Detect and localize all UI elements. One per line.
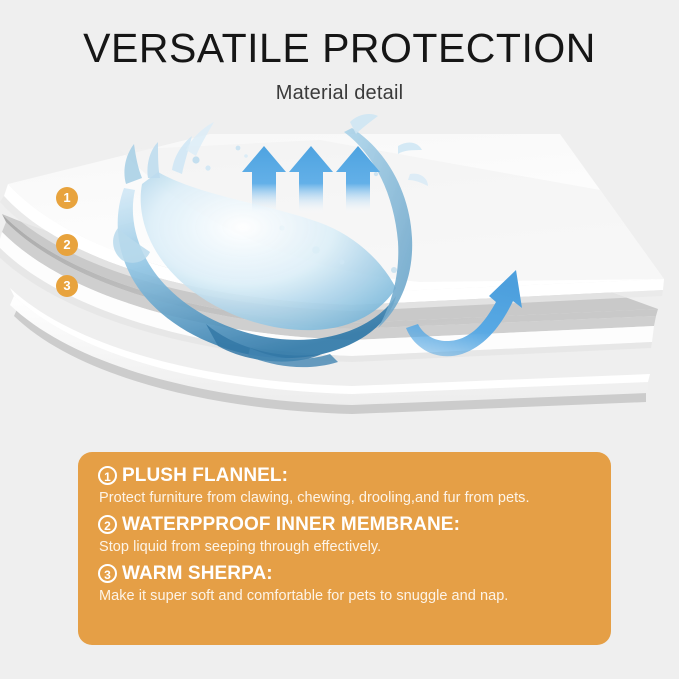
feature-number-badge-3: 3 <box>98 564 117 583</box>
feature-heading: 1 PLUSH FLANNEL: <box>98 466 591 485</box>
feature-heading: 3 WARM SHERPA: <box>98 564 591 583</box>
feature-description-2: Stop liquid from seeping through effecti… <box>99 539 591 555</box>
feature-description-3: Make it super soft and comfortable for p… <box>99 588 591 604</box>
layer-badge-2: 2 <box>56 234 78 256</box>
feature-title-2: WATERPPROOF INNER MEMBRANE: <box>122 515 460 534</box>
header: VERSATILE PROTECTION Material detail <box>0 0 679 105</box>
layered-fabric-illustration: 1 2 3 <box>0 110 679 440</box>
feature-number-badge-1: 1 <box>98 466 117 485</box>
layer-badge-3: 3 <box>56 275 78 297</box>
feature-heading: 2 WATERPPROOF INNER MEMBRANE: <box>98 515 591 534</box>
feature-description-1: Protect furniture from clawing, chewing,… <box>99 490 591 506</box>
page-subtitle: Material detail <box>0 70 679 105</box>
feature-list-panel: 1 PLUSH FLANNEL: Protect furniture from … <box>78 452 611 645</box>
upward-arrows-group <box>242 146 380 214</box>
feature-number-badge-2: 2 <box>98 515 117 534</box>
feature-item-plush-flannel: 1 PLUSH FLANNEL: Protect furniture from … <box>98 466 591 506</box>
product-feature-infographic: VERSATILE PROTECTION Material detail <box>0 0 679 679</box>
page-title: VERSATILE PROTECTION <box>0 0 679 70</box>
feature-title-3: WARM SHERPA: <box>122 564 273 583</box>
feature-item-warm-sherpa: 3 WARM SHERPA: Make it super soft and co… <box>98 564 591 604</box>
feature-title-1: PLUSH FLANNEL: <box>122 466 288 485</box>
feature-item-waterproof-membrane: 2 WATERPPROOF INNER MEMBRANE: Stop liqui… <box>98 515 591 555</box>
layer-badge-1: 1 <box>56 187 78 209</box>
layer-stack-svg <box>0 110 679 440</box>
